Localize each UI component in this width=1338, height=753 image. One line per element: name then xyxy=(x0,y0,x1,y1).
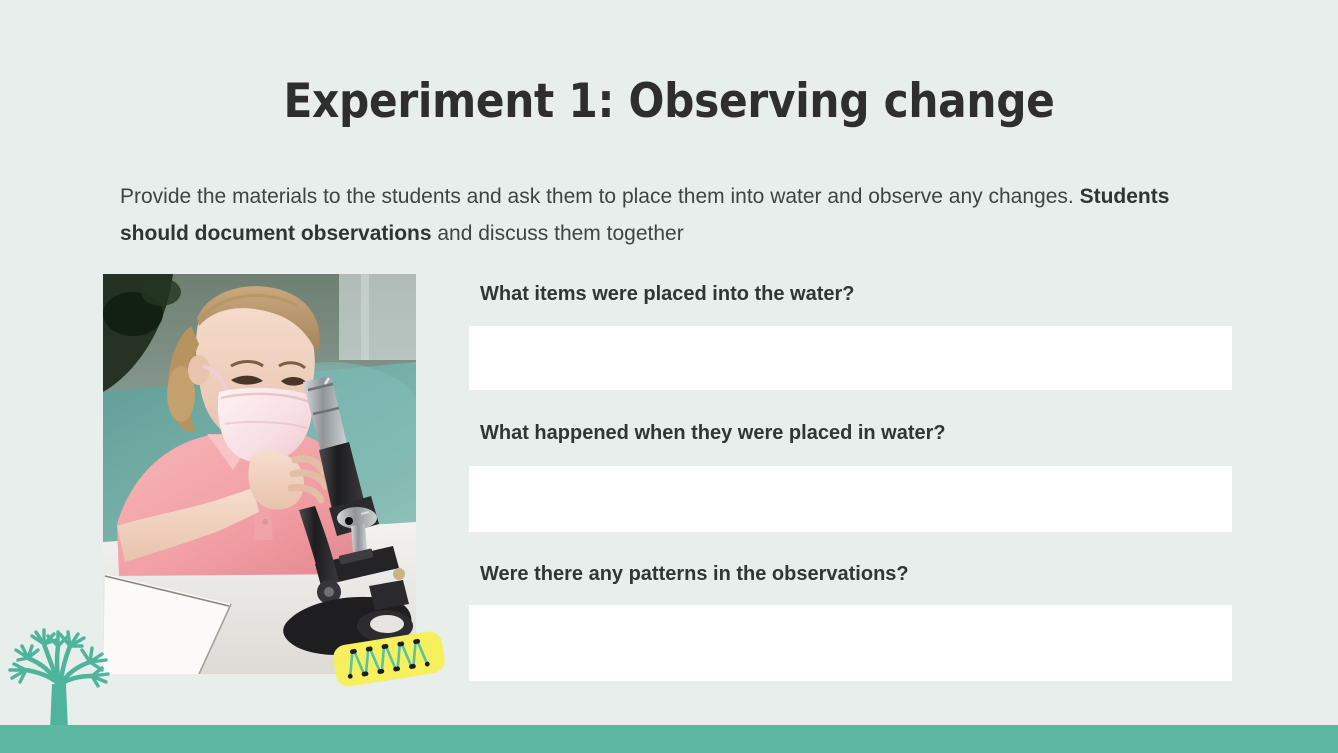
question-spacer-2 xyxy=(469,532,1232,563)
page-title: Experiment 1: Observing change xyxy=(0,72,1338,132)
question-label-3: Were there any patterns in the observati… xyxy=(469,563,1232,586)
answer-field-3[interactable] xyxy=(469,605,1232,681)
student-microscope-photo xyxy=(103,274,416,674)
tree-illustration xyxy=(4,626,114,731)
question-label-1: What items were placed into the water? xyxy=(469,283,1232,306)
worksheet-questions: What items were placed into the water? W… xyxy=(469,283,1232,681)
question-label-2: What happened when they were placed in w… xyxy=(469,422,1232,445)
answer-field-1[interactable] xyxy=(469,326,1232,390)
answer-field-2[interactable] xyxy=(469,466,1232,532)
question-spacer-1 xyxy=(469,390,1232,422)
question-block-1: What items were placed into the water? xyxy=(469,283,1232,390)
footer-band xyxy=(0,725,1338,753)
intro-text-part1: Provide the materials to the students an… xyxy=(120,185,1080,208)
photo-illustration xyxy=(103,274,416,674)
question-block-3: Were there any patterns in the observati… xyxy=(469,563,1232,681)
slide-canvas: Experiment 1: Observing change Provide t… xyxy=(0,0,1338,753)
intro-text-part2: and discuss them together xyxy=(432,222,684,245)
dna-icon xyxy=(330,622,448,696)
dna-sticker-decoration xyxy=(330,622,448,696)
tree-icon xyxy=(4,626,114,731)
intro-paragraph: Provide the materials to the students an… xyxy=(120,178,1210,252)
question-block-2: What happened when they were placed in w… xyxy=(469,422,1232,532)
